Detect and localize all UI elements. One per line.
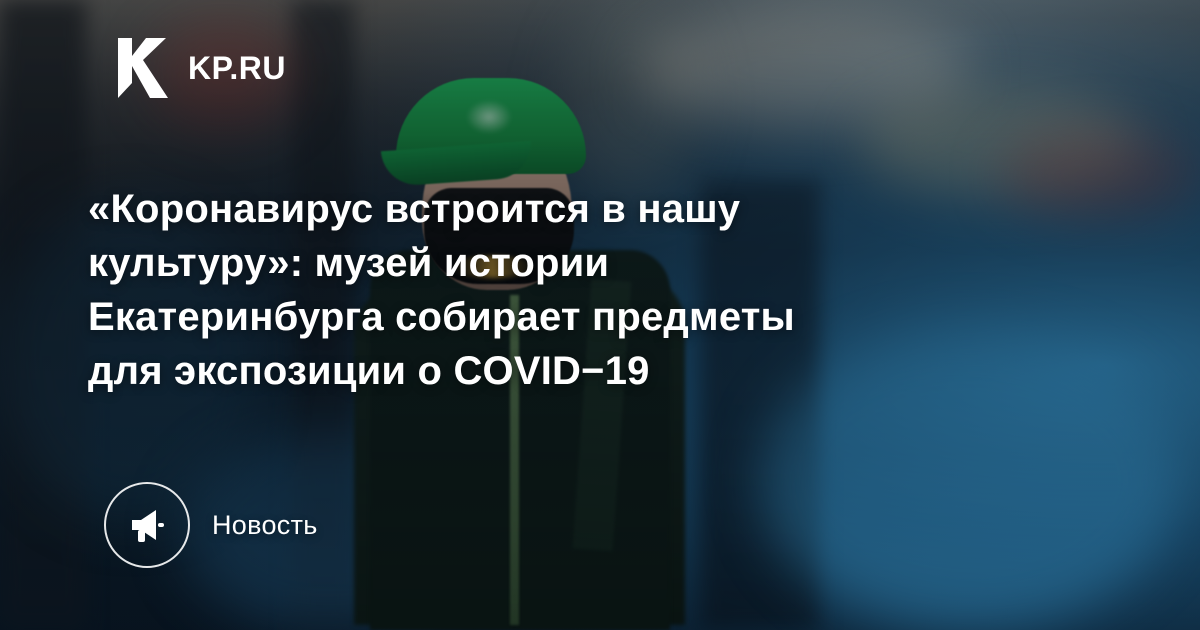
category-badge-label: Новость (212, 510, 318, 541)
headline-text: «Коронавирус встроится в нашу культуру»:… (88, 182, 1098, 398)
brand-name: KP.RU (188, 52, 286, 84)
brand-lockup[interactable]: KP.RU (110, 36, 286, 100)
category-badge[interactable]: Новость (104, 482, 318, 568)
card-overlay: KP.RU «Коронавирус встроится в нашу куль… (0, 0, 1200, 630)
megaphone-icon (104, 482, 190, 568)
kp-bird-icon (110, 36, 170, 100)
social-share-card: KP.RU «Коронавирус встроится в нашу куль… (0, 0, 1200, 630)
